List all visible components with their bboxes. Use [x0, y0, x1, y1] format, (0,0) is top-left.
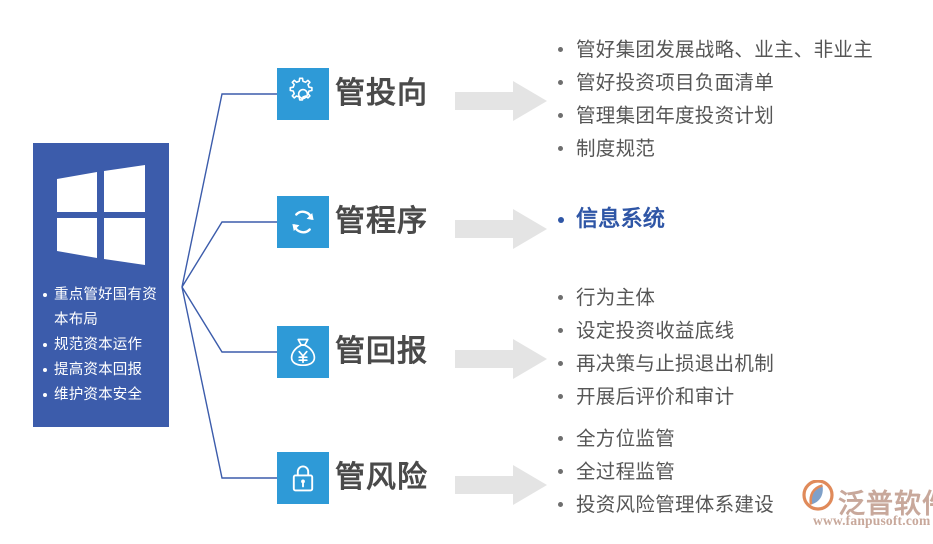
branch-bullets-2: 信息系统 [556, 202, 933, 238]
core-bullet-item: 规范资本运作 [41, 333, 163, 358]
lock-icon [286, 461, 320, 495]
right-arrow-icon [455, 464, 547, 506]
connector-branch-2 [182, 222, 277, 287]
branch-label-2: 管程序 [335, 196, 428, 248]
branch-icon-box-1[interactable] [277, 68, 329, 120]
core-panel: 重点管好国有资本布局 规范资本运作 提高资本回报 维护资本安全 [33, 143, 169, 427]
right-arrow-icon [455, 338, 547, 380]
branch-icon-box-2[interactable] [277, 196, 329, 248]
right-arrow-icon [455, 80, 547, 122]
branch-icon-box-4[interactable] [277, 452, 329, 504]
right-arrow-icon [455, 208, 547, 250]
connector-branch-3 [182, 287, 277, 352]
connector-branch-4 [182, 287, 277, 478]
branch-label-1: 管投向 [335, 68, 428, 120]
windows-panes-icon [55, 165, 147, 265]
branch-label-4: 管风险 [335, 452, 428, 504]
watermark: 泛普软件 www.fanpusoft.com [800, 480, 928, 536]
refresh-cycle-icon [286, 205, 320, 239]
fanpu-logo-icon [802, 480, 836, 512]
branch-bullets-3: 行为主体 设定投资收益底线 再决策与止损退出机制 开展后评价和审计 [556, 281, 933, 413]
bullet-item-highlight: 信息系统 [556, 202, 933, 238]
bullet-item: 开展后评价和审计 [556, 380, 933, 413]
branch-label-3: 管回报 [335, 326, 428, 378]
bullet-item: 管理集团年度投资计划 [556, 99, 933, 132]
diagram-canvas: 重点管好国有资本布局 规范资本运作 提高资本回报 维护资本安全 管投向 管好集团… [0, 0, 933, 544]
core-bullet-item: 维护资本安全 [41, 383, 163, 408]
core-bullet-list: 重点管好国有资本布局 规范资本运作 提高资本回报 维护资本安全 [33, 283, 169, 408]
gear-icon [286, 77, 320, 111]
bullet-item: 管好投资项目负面清单 [556, 66, 933, 99]
bullet-item: 行为主体 [556, 281, 933, 314]
bullet-item: 全方位监管 [556, 422, 933, 455]
bullet-item: 管好集团发展战略、业主、非业主 [556, 33, 933, 66]
bullet-item: 再决策与止损退出机制 [556, 347, 933, 380]
connector-branch-1 [182, 94, 277, 287]
watermark-url: www.fanpusoft.com [813, 513, 930, 529]
core-bullet-item: 提高资本回报 [41, 358, 163, 383]
bullet-item: 制度规范 [556, 132, 933, 165]
money-bag-icon [286, 335, 320, 369]
bullet-item: 设定投资收益底线 [556, 314, 933, 347]
branch-icon-box-3[interactable] [277, 326, 329, 378]
core-bullet-item: 重点管好国有资本布局 [41, 283, 163, 333]
branch-bullets-1: 管好集团发展战略、业主、非业主 管好投资项目负面清单 管理集团年度投资计划 制度… [556, 33, 933, 165]
